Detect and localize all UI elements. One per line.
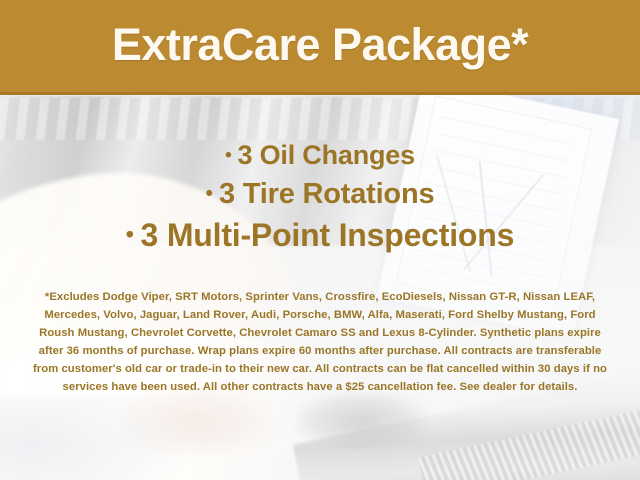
page-title: ExtraCare Package* xyxy=(112,22,528,67)
disclaimer-text: *Excludes Dodge Viper, SRT Motors, Sprin… xyxy=(30,288,610,397)
benefits-list: •3 Oil Changes •3 Tire Rotations •3 Mult… xyxy=(0,136,640,257)
list-item: •3 Multi-Point Inspections xyxy=(0,214,640,257)
header-banner: ExtraCare Package* xyxy=(0,0,640,95)
list-item-label: 3 Oil Changes xyxy=(237,140,414,170)
bullet-dot-icon: • xyxy=(225,146,232,165)
list-item: •3 Oil Changes xyxy=(0,136,640,174)
list-item-label: 3 Tire Rotations xyxy=(219,178,434,210)
bullet-dot-icon: • xyxy=(206,184,213,205)
list-item: •3 Tire Rotations xyxy=(0,174,640,214)
extracare-package-ad: ExtraCare Package* •3 Oil Changes •3 Tir… xyxy=(0,0,640,480)
list-item-label: 3 Multi-Point Inspections xyxy=(141,217,515,253)
bullet-dot-icon: • xyxy=(126,223,134,246)
